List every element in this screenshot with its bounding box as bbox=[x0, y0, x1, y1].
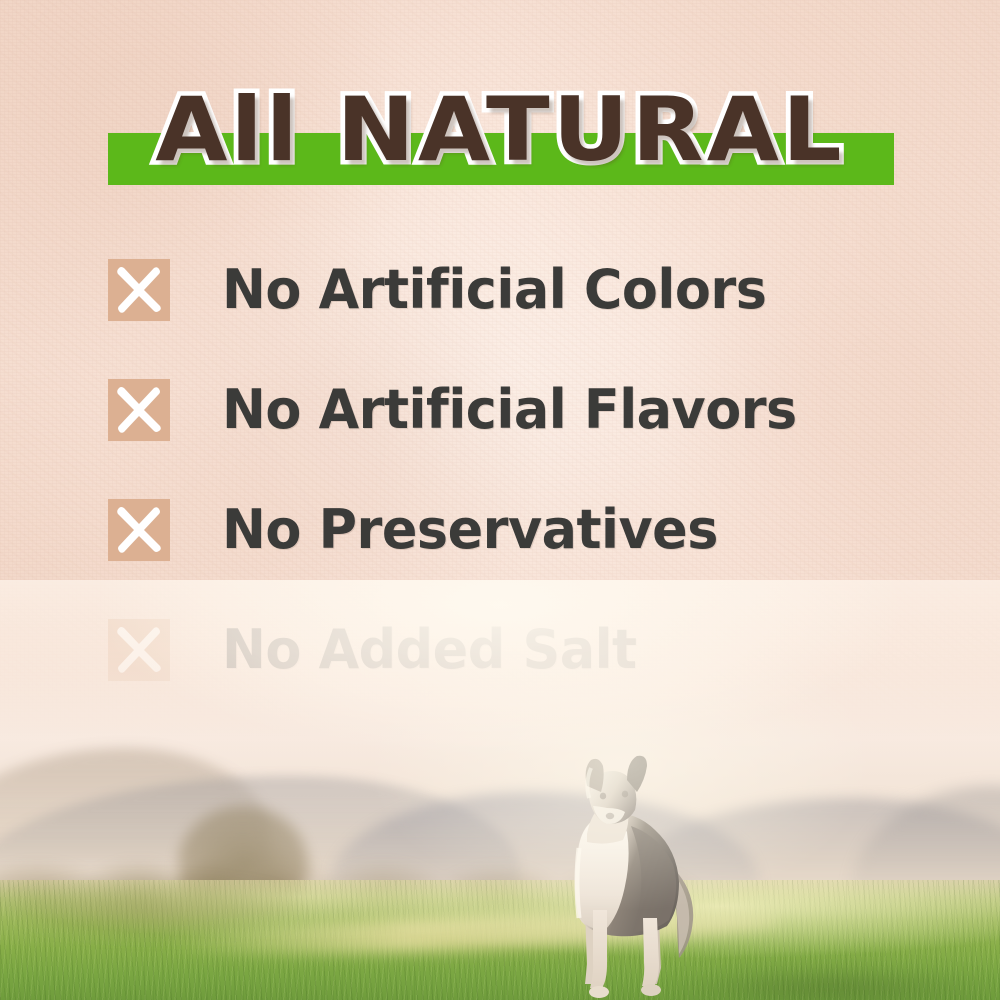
list-item-label: No Preservatives bbox=[222, 501, 718, 559]
list-item: No Artificial Colors bbox=[108, 252, 928, 328]
list-item-label: No Artificial Flavors bbox=[222, 381, 797, 439]
x-mark-icon bbox=[108, 499, 170, 561]
all-natural-infographic: All NATURAL No Artificial Colors No Arti… bbox=[0, 0, 1000, 1000]
list-item: No Artificial Flavors bbox=[108, 372, 928, 448]
headline-title: All NATURAL bbox=[0, 78, 1000, 182]
grass-field bbox=[0, 880, 1000, 1000]
grass-sunlight bbox=[0, 880, 1000, 1000]
x-mark-icon bbox=[108, 379, 170, 441]
dog-photo-subject bbox=[527, 752, 717, 1000]
list-item: No Preservatives bbox=[108, 492, 928, 568]
list-item-label: No Artificial Colors bbox=[222, 261, 766, 319]
landscape-photo bbox=[0, 580, 1000, 1000]
x-mark-icon bbox=[108, 259, 170, 321]
headline-banner: All NATURAL bbox=[0, 78, 1000, 190]
